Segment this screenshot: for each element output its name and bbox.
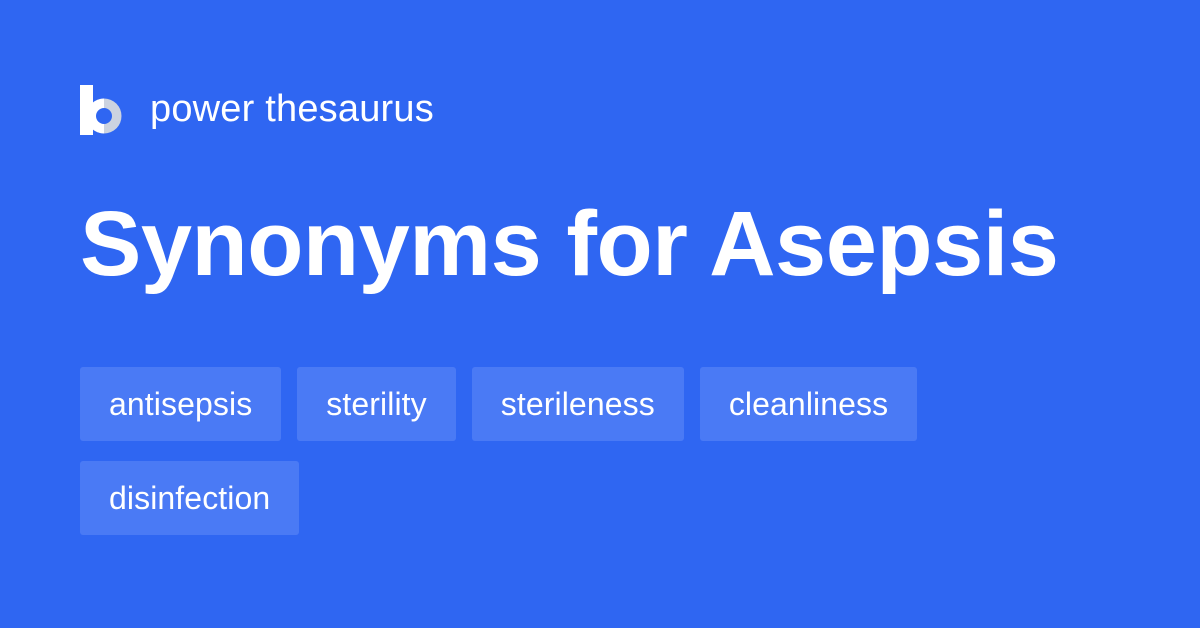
- power-thesaurus-b-logo-icon: [80, 85, 122, 135]
- synonyms-share-card: power thesaurus Synonyms for Asepsis ant…: [0, 0, 1200, 628]
- brand-name: power thesaurus: [150, 90, 434, 128]
- synonym-tag[interactable]: antisepsis: [80, 367, 281, 441]
- synonym-tag[interactable]: sterility: [297, 367, 455, 441]
- synonym-tag[interactable]: cleanliness: [700, 367, 917, 441]
- page-title: Synonyms for Asepsis: [80, 196, 1058, 293]
- synonym-tag[interactable]: disinfection: [80, 461, 299, 535]
- brand-logo[interactable]: power thesaurus: [80, 82, 434, 138]
- synonym-tag[interactable]: sterileness: [472, 367, 684, 441]
- synonym-tag-list: antisepsissterilitysterilenesscleanlines…: [80, 367, 1120, 535]
